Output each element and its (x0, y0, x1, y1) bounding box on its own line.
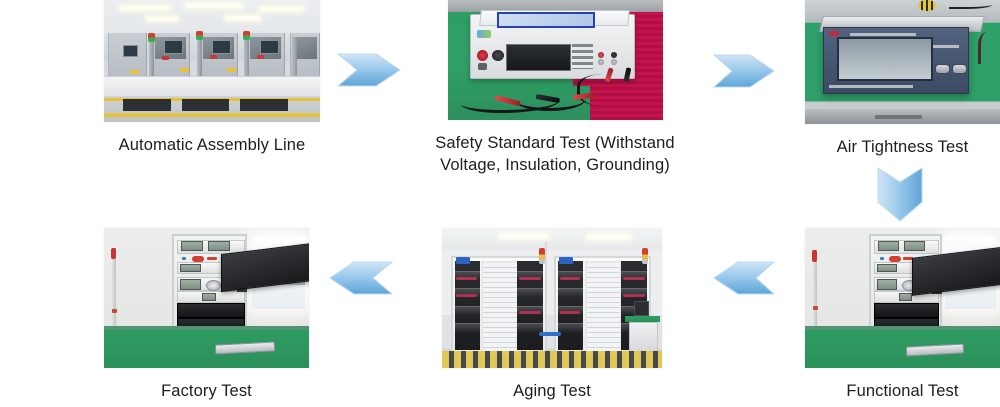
photo-safety-standard-test (448, 0, 663, 120)
step-card-automatic-assembly-line[interactable]: Automatic Assembly Line (104, 0, 320, 122)
photo-automatic-assembly-line (104, 0, 320, 122)
photo-functional-test (805, 228, 1000, 368)
step-card-factory-test[interactable]: Factory Test (104, 228, 309, 368)
step-label-automatic-assembly-line: Automatic Assembly Line (76, 134, 348, 156)
photo-factory-test (104, 228, 309, 368)
step-card-safety-standard-test[interactable]: Safety Standard Test (Withstand Voltage,… (448, 0, 663, 120)
step-label-air-tightness-test: Air Tightness Test (795, 136, 1000, 158)
step-label-functional-test: Functional Test (795, 380, 1000, 402)
process-flow-diagram: Automatic Assembly Line (0, 0, 1000, 407)
arrow-right-icon-step1-step2 (338, 48, 402, 92)
photo-air-tightness-test (805, 0, 1000, 124)
arrow-left-icon-step4-step5 (712, 256, 774, 300)
step-label-factory-test: Factory Test (99, 380, 314, 402)
step-label-safety-standard-test: Safety Standard Test (Withstand Voltage,… (410, 132, 700, 177)
step-card-aging-test[interactable]: Aging Test (442, 228, 662, 368)
arrow-right-icon-step2-step3 (714, 50, 776, 92)
arrow-down-icon-step3-step4 (872, 168, 928, 224)
step-card-air-tightness-test[interactable]: Air Tightness Test (805, 0, 1000, 124)
step-label-aging-test: Aging Test (442, 380, 662, 402)
step-card-functional-test[interactable]: Functional Test (805, 228, 1000, 368)
photo-aging-test (442, 228, 662, 368)
arrow-left-icon-step5-step6 (328, 256, 392, 300)
